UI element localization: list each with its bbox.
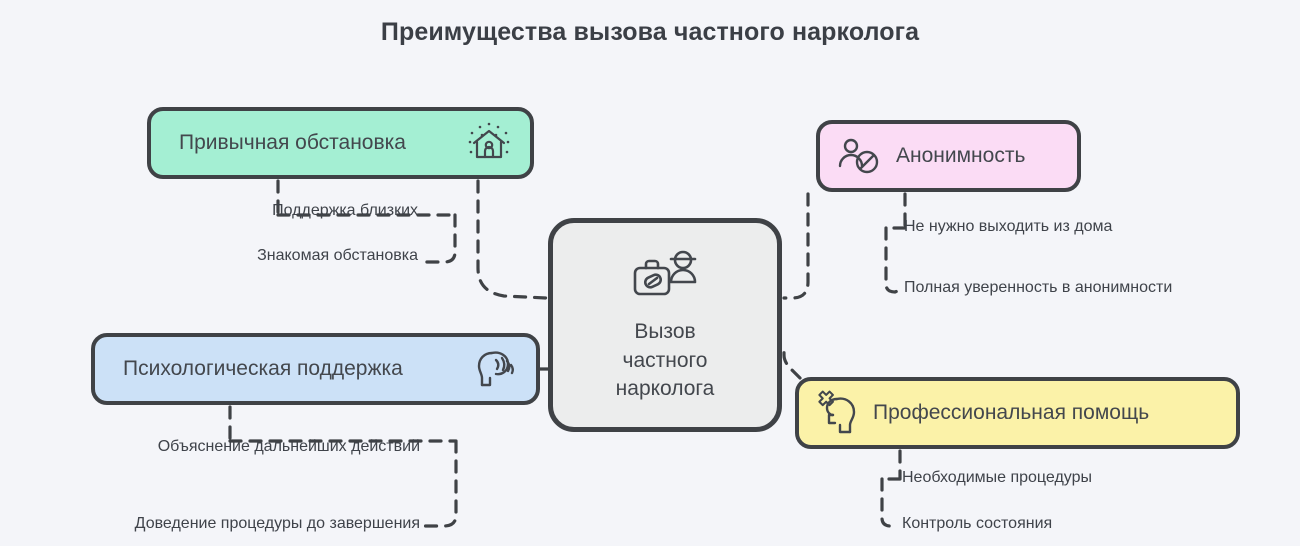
- branch-node-yellow-label: Профессиональная помощь: [873, 401, 1149, 425]
- leaf-label-green-2: Знакомая обстановка: [150, 247, 418, 265]
- branch-node-blue[interactable]: Психологическая поддержка: [91, 333, 540, 405]
- branch-node-pink-label: Анонимность: [896, 144, 1025, 168]
- edge-yellow-children-spine: [882, 451, 900, 526]
- edge-yellow-to-center: [784, 350, 800, 378]
- leaf-label-blue-2: Доведение процедуры до завершения: [60, 515, 420, 533]
- branch-node-blue-label: Психологическая поддержка: [123, 357, 403, 381]
- head-brain-icon: [474, 347, 520, 391]
- branch-node-yellow[interactable]: Профессиональная помощь: [795, 377, 1240, 449]
- person-no-sign-icon: [836, 135, 882, 177]
- leaf-label-yellow-1: Необходимые процедуры: [902, 469, 1092, 487]
- leaf-label-yellow-2: Контроль состояния: [902, 515, 1052, 533]
- leaf-label-green-1: Поддержка близких: [150, 202, 418, 220]
- branch-node-green-label: Привычная обстановка: [179, 131, 406, 155]
- branch-node-green[interactable]: Привычная обстановка: [147, 107, 534, 179]
- leaf-label-blue-1: Объяснение дальнейших действий: [60, 438, 420, 456]
- branch-node-pink[interactable]: Анонимность: [816, 120, 1081, 192]
- leaf-label-pink-2: Полная уверенность в анонимности: [904, 279, 1172, 297]
- edge-pink-children-spine: [886, 194, 905, 292]
- edge-pink-to-center: [784, 194, 808, 298]
- leaf-label-pink-1: Не нужно выходить из дома: [904, 218, 1112, 236]
- edge-blue-children-spine: [230, 407, 456, 526]
- mindmap-canvas: Преимущества вызова частного нарколога: [0, 0, 1300, 546]
- center-node-label: Вызов частного нарколога: [616, 318, 715, 403]
- head-medical-cross-icon: [813, 390, 861, 436]
- center-node[interactable]: Вызов частного нарколога: [548, 218, 782, 432]
- edge-green-to-center: [478, 181, 546, 298]
- doctor-bag-icon: [626, 246, 704, 306]
- house-person-icon: [466, 121, 512, 165]
